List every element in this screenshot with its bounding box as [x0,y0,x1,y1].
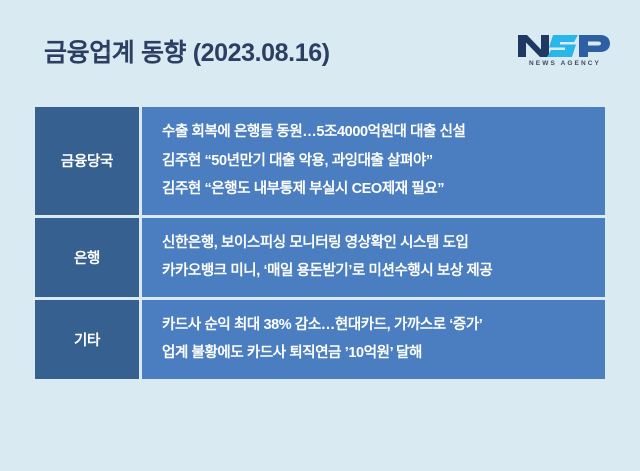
list-item: 김주현 “50년만기 대출 악용, 과잉대출 살펴야” [162,147,605,176]
page-title: 금융업계 동향 (2023.08.16) [44,33,330,69]
list-item: 신한은행, 보이스피싱 모니터링 영상확인 시스템 도입 [162,229,605,258]
list-item: 카카오뱅크 미니, ‘매일 용돈받기’로 미션수행시 보상 제공 [162,257,605,286]
category-cell-other: 기타 [35,300,139,379]
items-cell-bank: 신한은행, 보이스피싱 모니터링 영상확인 시스템 도입 카카오뱅크 미니, ‘… [142,218,605,297]
nsp-news-agency-logo: NEWS AGENCY [516,33,612,68]
list-item: 김주현 “은행도 내부통제 부실시 CEO제재 필요” [162,175,605,204]
table-row: 기타 카드사 순익 최대 38% 감소…현대카드, 가까스로 ‘증가’ 업계 불… [35,300,605,379]
financial-news-table: 금융당국 수출 회복에 은행들 동원…5조4000억원대 대출 신설 김주현 “… [32,104,608,382]
table-row: 금융당국 수출 회복에 은행들 동원…5조4000억원대 대출 신설 김주현 “… [35,107,605,215]
list-item: 카드사 순익 최대 38% 감소…현대카드, 가까스로 ‘증가’ [162,311,605,340]
list-item: 수출 회복에 은행들 동원…5조4000억원대 대출 신설 [162,118,605,147]
nsp-logo-icon [516,33,612,59]
items-cell-financial-authority: 수출 회복에 은행들 동원…5조4000억원대 대출 신설 김주현 “50년만기… [142,107,605,215]
list-item: 업계 불황에도 카드사 퇴직연금 ’10억원’ 달해 [162,339,605,368]
page-header: 금융업계 동향 (2023.08.16) NEWS AGENCY [0,0,640,96]
category-cell-financial-authority: 금융당국 [35,107,139,215]
logo-subtitle: NEWS AGENCY [527,61,601,68]
items-cell-other: 카드사 순익 최대 38% 감소…현대카드, 가까스로 ‘증가’ 업계 불황에도… [142,300,605,379]
category-cell-bank: 은행 [35,218,139,297]
table-row: 은행 신한은행, 보이스피싱 모니터링 영상확인 시스템 도입 카카오뱅크 미니… [35,218,605,297]
